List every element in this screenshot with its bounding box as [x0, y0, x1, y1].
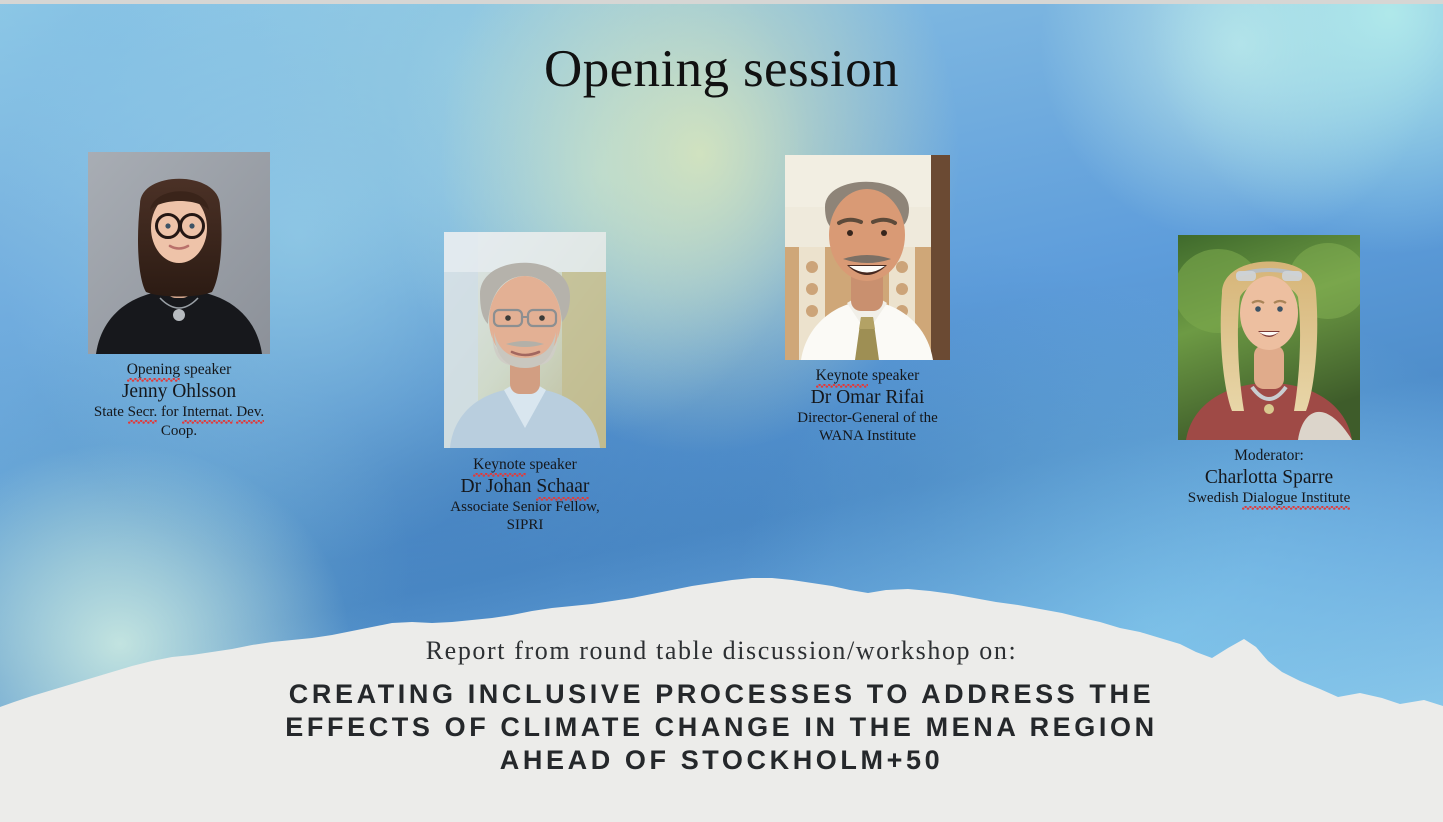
speaker-name-1: Jenny Ohlsson	[88, 380, 270, 403]
workshop-title-line-3: AHEAD OF STOCKHOLM+50	[110, 744, 1333, 777]
workshop-title-line-2: EFFECTS OF CLIMATE CHANGE IN THE MENA RE…	[110, 711, 1333, 744]
slide-top-edge-strip	[0, 0, 1443, 4]
workshop-title: CREATING INCLUSIVE PROCESSES TO ADDRESS …	[0, 678, 1443, 777]
presentation-slide: Opening session	[0, 0, 1443, 822]
speaker-name-2: Dr Johan Schaar	[444, 475, 606, 498]
speaker-org-1-line-1: State Secr. for Internat. Dev.	[88, 404, 270, 422]
speaker-name-4: Charlotta Sparre	[1178, 466, 1360, 489]
speaker-card-4: Moderator: Charlotta Sparre Swedish Dial…	[1178, 235, 1360, 508]
speaker-org-1-line-2: Coop.	[88, 423, 270, 441]
speaker-photo-3	[785, 155, 950, 360]
speaker-caption-1: Opening speaker Jenny Ohlsson State Secr…	[88, 361, 270, 441]
page-title: Opening session	[0, 42, 1443, 98]
speaker-caption-4: Moderator: Charlotta Sparre Swedish Dial…	[1178, 447, 1360, 508]
speaker-caption-2: Keynote speaker Dr Johan Schaar Associat…	[444, 456, 606, 535]
footer-block: Report from round table discussion/works…	[0, 636, 1443, 777]
speaker-photo-4	[1178, 235, 1360, 440]
workshop-title-line-1: CREATING INCLUSIVE PROCESSES TO ADDRESS …	[110, 678, 1333, 711]
speaker-name-3: Dr Omar Rifai	[785, 386, 950, 409]
speaker-role-1-misspelled: Opening	[127, 361, 180, 382]
speaker-org-4-misspelled: Dialogue Institute	[1242, 490, 1350, 510]
org-misspelled-secr: Secr.	[128, 404, 158, 424]
speaker-org-3: Director-General of the WANA Institute	[785, 410, 950, 445]
speaker-org-2: Associate Senior Fellow, SIPRI	[444, 499, 606, 534]
org-misspelled-dev: Dev.	[236, 404, 264, 424]
speaker-photo-2	[444, 232, 606, 448]
org-misspelled-internat: Internat.	[182, 404, 232, 424]
speaker-role-4: Moderator:	[1178, 447, 1360, 465]
report-line: Report from round table discussion/works…	[0, 636, 1443, 666]
speaker-name-2-misspelled: Schaar	[536, 476, 589, 501]
speaker-role-2: Keynote speaker	[444, 456, 606, 474]
speaker-photo-1	[88, 152, 270, 354]
speaker-card-2: Keynote speaker Dr Johan Schaar Associat…	[444, 232, 606, 535]
speaker-org-4: Swedish Dialogue Institute	[1178, 490, 1360, 508]
speaker-role-2-misspelled: Keynote	[473, 456, 526, 477]
speaker-role-3-misspelled: Keynote	[816, 367, 869, 388]
speaker-role-3: Keynote speaker	[785, 367, 950, 385]
speaker-role-1: Opening speaker	[88, 361, 270, 379]
speaker-caption-3: Keynote speaker Dr Omar Rifai Director-G…	[785, 367, 950, 446]
speaker-card-1: Opening speaker Jenny Ohlsson State Secr…	[88, 152, 270, 441]
speaker-card-3: Keynote speaker Dr Omar Rifai Director-G…	[785, 155, 950, 446]
